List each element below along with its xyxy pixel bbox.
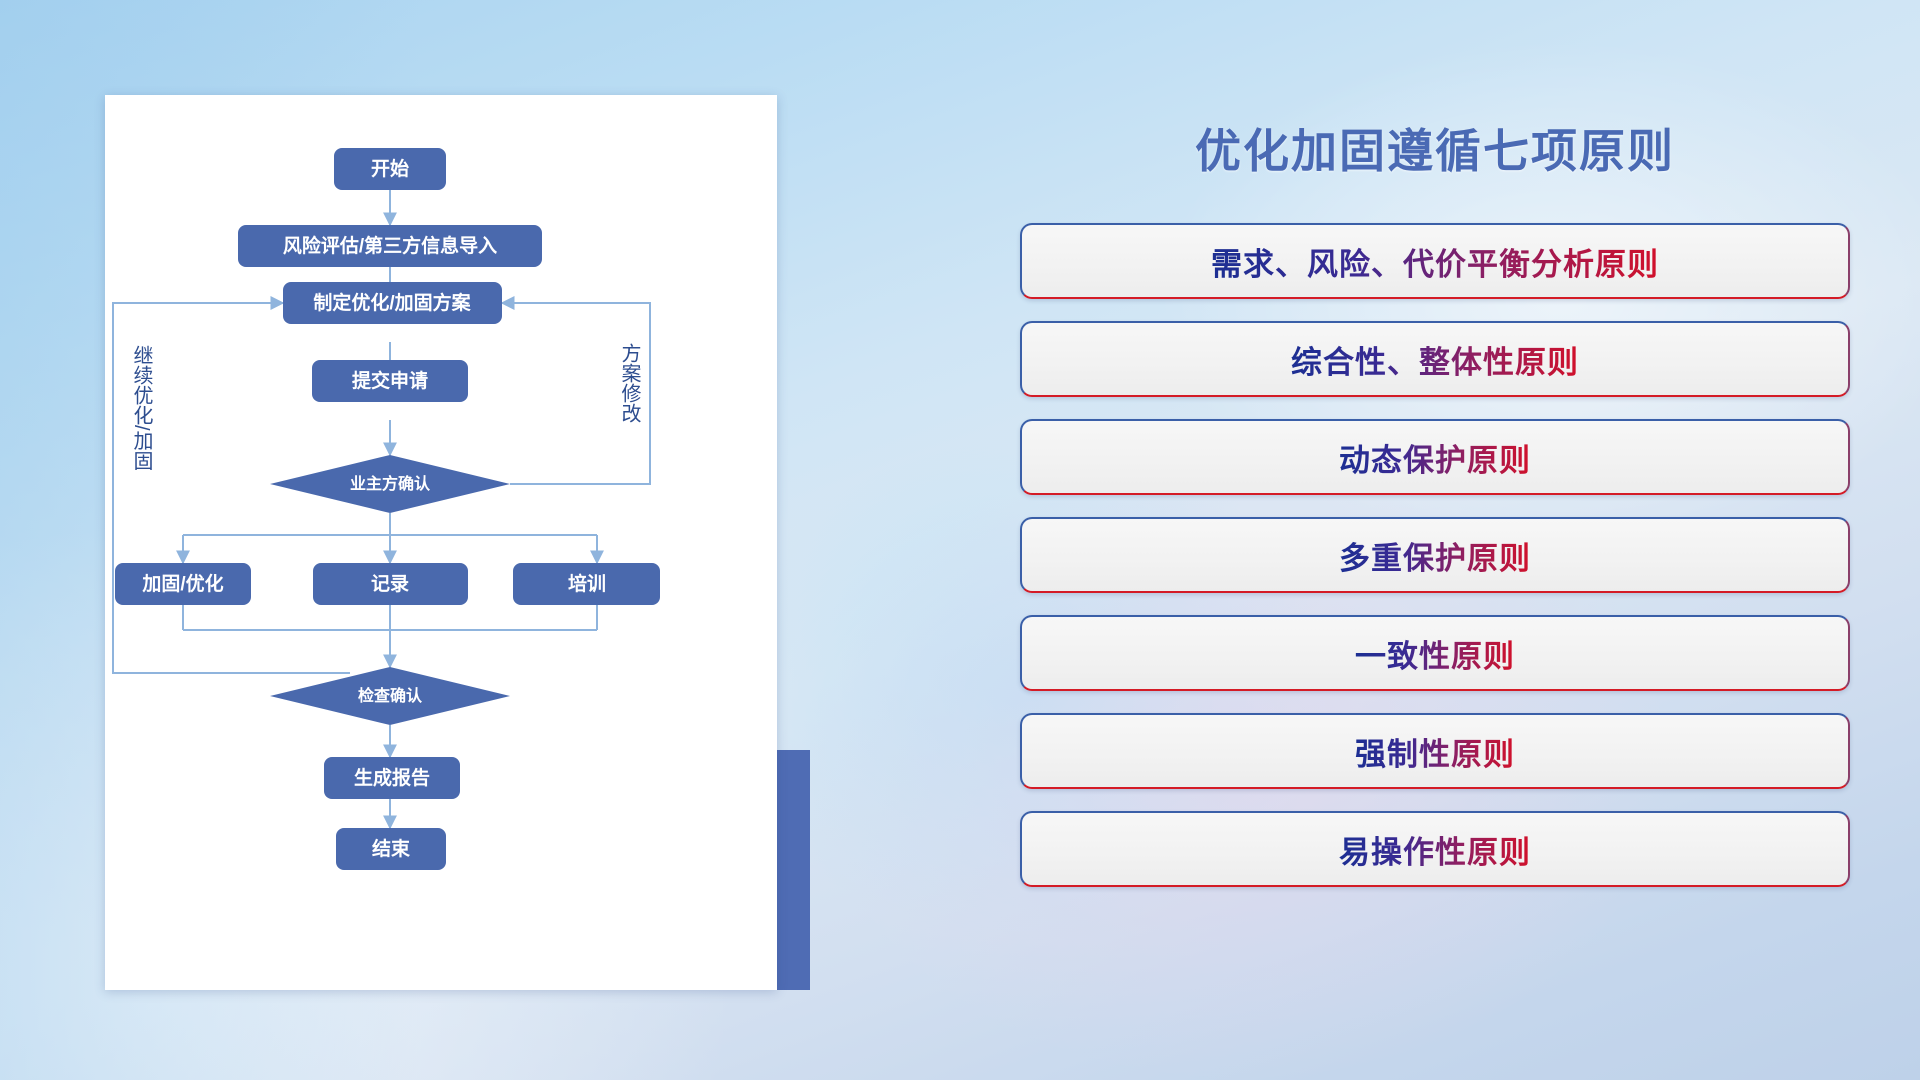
principle-label: 一致性原则	[1355, 631, 1515, 676]
flow-node-end[interactable]: 结束	[336, 828, 446, 870]
flow-node-owner-confirm-label: 业主方确认	[350, 474, 431, 493]
flow-node-make-plan[interactable]: 制定优化/加固方案	[283, 282, 502, 324]
flow-node-training[interactable]: 培训	[513, 563, 660, 605]
principle-label: 动态保护原则	[1339, 435, 1531, 480]
flow-node-record-label: 记录	[371, 573, 409, 595]
principle-card[interactable]: 强制性原则	[1020, 713, 1850, 789]
flow-node-owner-confirm[interactable]: 业主方确认	[270, 455, 510, 513]
flow-node-start[interactable]: 开始	[334, 148, 446, 190]
flow-nodes: 开始 风险评估/第三方信息导入 制定优化/加固方案 提交申请 业主方确认 加固/	[115, 148, 660, 870]
flow-node-end-label: 结束	[372, 837, 411, 860]
flow-node-submit[interactable]: 提交申请	[312, 360, 468, 402]
principle-label: 易操作性原则	[1339, 827, 1531, 872]
flow-node-check-confirm-label: 检查确认	[358, 686, 423, 705]
principle-list: 需求、风险、代价平衡分析原则 综合性、整体性原则 动态保护原则 多重保护原则 一…	[1020, 223, 1850, 887]
flow-node-make-plan-label: 制定优化/加固方案	[313, 291, 471, 314]
flow-edge-label-plan-revision: 方案修改	[618, 343, 641, 423]
principle-card[interactable]: 多重保护原则	[1020, 517, 1850, 593]
principle-card[interactable]: 一致性原则	[1020, 615, 1850, 691]
flow-node-reinforce[interactable]: 加固/优化	[115, 563, 251, 605]
principle-label: 需求、风险、代价平衡分析原则	[1211, 239, 1659, 284]
principle-label: 强制性原则	[1355, 729, 1515, 774]
principle-card[interactable]: 综合性、整体性原则	[1020, 321, 1850, 397]
flow-node-risk-assessment-label: 风险评估/第三方信息导入	[283, 234, 497, 257]
flow-edge-label-continue-optimize: 继续优化/加固	[130, 345, 153, 471]
flow-node-generate-report-label: 生成报告	[354, 766, 430, 789]
flow-node-generate-report[interactable]: 生成报告	[324, 757, 460, 799]
principle-label: 多重保护原则	[1339, 533, 1531, 578]
principles-panel: 优化加固遵循七项原则 需求、风险、代价平衡分析原则 综合性、整体性原则 动态保护…	[1020, 95, 1850, 995]
principle-card[interactable]: 需求、风险、代价平衡分析原则	[1020, 223, 1850, 299]
flow-node-risk-assessment[interactable]: 风险评估/第三方信息导入	[238, 225, 542, 267]
page-title: 优化加固遵循七项原则	[1020, 115, 1850, 181]
flow-node-start-label: 开始	[371, 157, 409, 180]
flow-node-training-label: 培训	[568, 572, 606, 595]
principle-card[interactable]: 动态保护原则	[1020, 419, 1850, 495]
principle-card[interactable]: 易操作性原则	[1020, 811, 1850, 887]
principle-label: 综合性、整体性原则	[1291, 337, 1579, 382]
flow-node-reinforce-label: 加固/优化	[141, 572, 223, 595]
flowchart-card: 开始 风险评估/第三方信息导入 制定优化/加固方案 提交申请 业主方确认 加固/	[105, 95, 777, 990]
flow-node-record[interactable]: 记录	[313, 563, 468, 605]
flow-node-check-confirm[interactable]: 检查确认	[270, 667, 510, 725]
flow-node-submit-label: 提交申请	[352, 369, 428, 392]
flowchart-diagram: 开始 风险评估/第三方信息导入 制定优化/加固方案 提交申请 业主方确认 加固/	[105, 95, 777, 990]
